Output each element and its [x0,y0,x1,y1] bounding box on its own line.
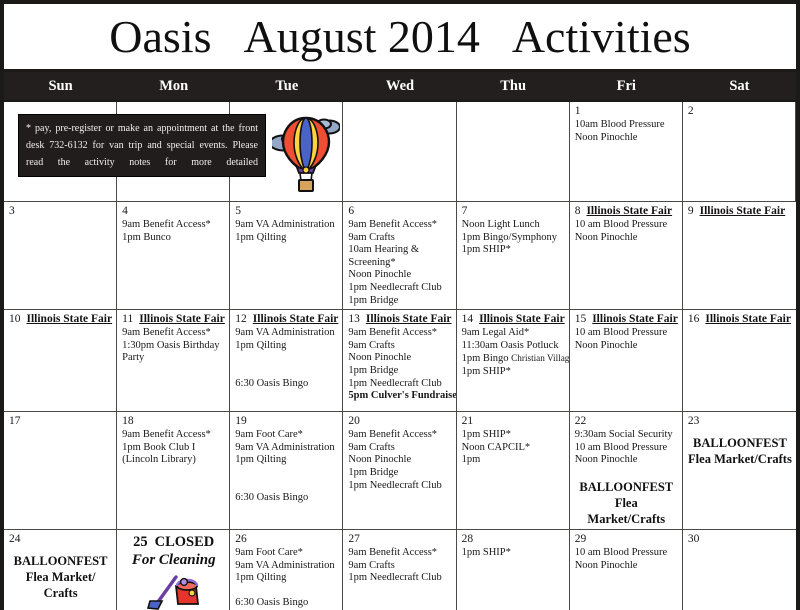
day-header: 4 [122,205,225,217]
day-number: 27 [348,533,360,545]
day-event-item[interactable]: 1pm Bridge [348,467,451,480]
weekday-wed: Wed [343,72,456,100]
day-number: 5 [235,205,241,217]
weekday-fri: Fri [570,72,683,100]
day-cell-19[interactable]: 199am Foot Care*9am VA Administration1pm… [230,412,343,529]
day-cell-20[interactable]: 209am Benefit Access*9am CraftsNoon Pino… [343,412,456,529]
day-cell-3[interactable]: 3 [4,202,117,309]
calendar-week-row: 10Illinois State Fair11Illinois State Fa… [4,310,796,412]
closed-sublabel: For Cleaning [122,552,225,569]
day-event-item[interactable]: 9am Foot Care* [235,429,338,442]
day-event-list: 9am Benefit Access*9am Crafts1pm Needlec… [348,547,451,585]
day-event-item[interactable]: 1pm Needlecraft Club [348,282,451,295]
day-header: 16Illinois State Fair [688,313,792,325]
day-event-item[interactable]: 1pm Qilting [235,454,338,467]
banner-spacer [575,467,678,479]
day-header: 19 [235,415,338,427]
day-event-list: 9am Benefit Access*9am CraftsNoon Pinoch… [348,429,451,492]
day-number: 8 [575,205,581,217]
day-event-item[interactable]: 9am Benefit Access* [348,547,451,560]
day-event-item[interactable]: 9am VA Administration [235,560,338,573]
day-event-item[interactable]: 10 am Blood Pressure [575,442,678,455]
day-number: 19 [235,415,247,427]
day-event-item[interactable]: 10 am Blood Pressure [575,547,678,560]
closed-label: CLOSED [155,534,215,551]
day-cell-9[interactable]: 9Illinois State Fair [683,202,796,309]
hot-air-balloon-icon [272,110,340,196]
day-event-tag: Illinois State Fair [139,313,225,325]
balloonfest-banner-line: BALLOONFEST [575,479,678,495]
day-header: 7 [462,205,565,217]
day-event-item[interactable]: 9am Benefit Access* [348,219,451,232]
day-event-item[interactable]: 10am Hearing & [348,244,451,257]
day-number: 12 [235,313,247,325]
day-event-item[interactable]: 1pm Needlecraft Club [348,480,451,493]
day-number: 26 [235,533,247,545]
day-number: 14 [462,313,474,325]
day-event-list: 10am Blood PressureNoon Pinochle [575,119,678,144]
day-event-tag: Illinois State Fair [366,313,452,325]
day-number: 23 [688,415,700,427]
day-event-item[interactable]: Noon Pinochle [348,352,451,365]
day-event-list: Noon Light Lunch1pm Bingo/Symphony1pm SH… [462,219,565,257]
day-event-item[interactable]: 9:30am Social Security [575,429,678,442]
calendar-week-row: 110am Blood PressureNoon Pinochle2* pay,… [4,102,796,202]
day-cell-24[interactable]: 24BALLOONFESTFlea Market/Crafts [4,530,117,610]
day-event-item[interactable]: 9am Benefit Access* [122,429,225,442]
day-header: 29 [575,533,678,545]
day-event-item[interactable]: 1pm Needlecraft Club [348,572,451,585]
day-number: 7 [462,205,468,217]
activity-note-text: * pay, pre-register or make an appointme… [26,120,258,171]
day-header: 1 [575,105,678,117]
balloonfest-banner-line: Crafts [9,585,112,601]
day-header: 13Illinois State Fair [348,313,451,325]
day-header: 11Illinois State Fair [122,313,225,325]
mop-and-bucket-icon [146,570,202,610]
weekday-mon: Mon [117,72,230,100]
day-number: 1 [575,105,581,117]
day-event-item[interactable]: Screening* [348,257,451,270]
day-event-list: 9am Legal Aid*11:30am Oasis Potluck1pm B… [462,327,565,378]
day-header: 22 [575,415,678,427]
day-number: 30 [688,533,700,545]
day-cell-21[interactable]: 211pm SHIP*Noon CAPCIL*1pm [457,412,570,529]
day-header: 28 [462,533,565,545]
day-number: 24 [9,533,21,545]
day-event-list: 9am VA Administration1pm Qilting 6:30 Oa… [235,327,338,390]
banner-spacer [9,545,112,553]
day-number: 20 [348,415,360,427]
day-cell-11[interactable]: 11Illinois State Fair9am Benefit Access*… [117,310,230,411]
day-event-tag: Illinois State Fair [27,313,113,325]
day-cell-12[interactable]: 12Illinois State Fair9am VA Administrati… [230,310,343,411]
weekday-thu: Thu [457,72,570,100]
day-event-item[interactable]: 9am Legal Aid* [462,327,565,340]
day-header: 24 [9,533,112,545]
day-header: 17 [9,415,112,427]
day-header: 26 [235,533,338,545]
day-event-tag: Illinois State Fair [586,205,672,217]
day-event-item[interactable]: 9am VA Administration [235,219,338,232]
day-number: 6 [348,205,354,217]
day-event-item[interactable]: 6:30 Oasis Bingo [235,378,338,391]
day-header: 8Illinois State Fair [575,205,678,217]
day-event-item[interactable]: 5pm Culver's Fundraiser [348,390,451,403]
day-number: 18 [122,415,134,427]
day-event-tag: Illinois State Fair [592,313,678,325]
day-cell-8[interactable]: 8Illinois State Fair10 am Blood Pressure… [570,202,683,309]
day-event-item[interactable]: 1pm Bingo/Symphony [462,232,565,245]
day-event-list: 1pm SHIP*Noon CAPCIL*1pm [462,429,565,467]
day-cell-5[interactable]: 59am VA Administration1pm Qilting [230,202,343,309]
calendar-week-row: 24BALLOONFESTFlea Market/Crafts25CLOSEDF… [4,530,796,610]
day-header: 2 [688,105,791,117]
day-event-item[interactable]: 9am Crafts [348,442,451,455]
weekday-tue: Tue [230,72,343,100]
day-header: 15Illinois State Fair [575,313,678,325]
balloonfest-banner-line: BALLOONFEST [688,435,792,451]
day-event-list: 9am Benefit Access*1pm Book Club I(Linco… [122,429,225,467]
weekday-sun: Sun [4,72,117,100]
balloonfest-banner-line: Flea Market/ [9,569,112,585]
day-cell-28[interactable]: 281pm SHIP* [457,530,570,610]
day-number: 13 [348,313,360,325]
day-cell-15[interactable]: 15Illinois State Fair10 am Blood Pressur… [570,310,683,411]
day-event-item[interactable]: Noon Pinochle [575,454,678,467]
day-event-item[interactable]: (Lincoln Library) [122,454,225,467]
day-event-item[interactable]: 1pm Qilting [235,340,338,353]
day-event-item[interactable]: Noon CAPCIL* [462,442,565,455]
day-event-item[interactable]: 1pm Bridge [348,295,451,308]
day-event-list: 9am Foot Care*9am VA Administration1pm Q… [235,547,338,610]
day-cell-27[interactable]: 279am Benefit Access*9am Crafts1pm Needl… [343,530,456,610]
day-cell-30[interactable]: 30 [683,530,796,610]
day-cell-4[interactable]: 49am Benefit Access*1pm Bunco [117,202,230,309]
day-event-list: 9am Benefit Access*1pm Bunco [122,219,225,244]
day-cell-23[interactable]: 23BALLOONFESTFlea Market/Crafts [683,412,796,529]
day-number: 15 [575,313,587,325]
day-header: 30 [688,533,792,545]
day-event-tag: Illinois State Fair [253,313,339,325]
calendar-grid: 110am Blood PressureNoon Pinochle2* pay,… [0,100,800,610]
day-cell-16[interactable]: 16Illinois State Fair [683,310,796,411]
day-event-list: 10 am Blood PressureNoon Pinochle [575,547,678,572]
day-event-item[interactable]: 10am Blood Pressure [575,119,678,132]
day-number: 11 [122,313,133,325]
day-cell-empty[interactable] [457,102,570,201]
day-cell-1[interactable]: 110am Blood PressureNoon Pinochle [570,102,683,201]
day-event-item[interactable]: Noon Pinochle [348,454,451,467]
day-header: 18 [122,415,225,427]
day-event-list: 9am Benefit Access*9am Crafts10am Hearin… [348,219,451,307]
day-event-item[interactable]: 1pm [462,454,565,467]
day-number: 10 [9,313,21,325]
day-event-list: 9am Benefit Access*9am CraftsNoon Pinoch… [348,327,451,403]
day-event-item[interactable]: 1:30pm Oasis Birthday [122,340,225,353]
day-event-item[interactable]: 1pm SHIP* [462,547,565,560]
day-event-item[interactable]: 6:30 Oasis Bingo [235,492,338,505]
day-header: 9Illinois State Fair [688,205,792,217]
day-event-item[interactable]: 1pm SHIP* [462,366,565,379]
day-event-list: 10 am Blood PressureNoon Pinochle [575,219,678,244]
day-number: 2 [688,105,694,117]
day-event-item[interactable]: 9am Benefit Access* [348,327,451,340]
day-number: 4 [122,205,128,217]
day-cell-10[interactable]: 10Illinois State Fair [4,310,117,411]
page-title: Oasis August 2014 Activities [109,14,690,60]
day-number: 22 [575,415,587,427]
day-cell-17[interactable]: 17 [4,412,117,529]
day-header: 6 [348,205,451,217]
weekday-sat: Sat [683,72,796,100]
day-event-item[interactable]: 1pm Bunco [122,232,225,245]
day-number: 9 [688,205,694,217]
day-header: 25CLOSED [122,534,225,551]
day-header: 21 [462,415,565,427]
calendar-page: Oasis August 2014 Activities Sun Mon Tue… [0,0,800,610]
weekday-header-row: Sun Mon Tue Wed Thu Fri Sat [0,72,800,100]
day-event-item[interactable]: 9am Benefit Access* [122,327,225,340]
day-cell-18[interactable]: 189am Benefit Access*1pm Book Club I(Lin… [117,412,230,529]
day-event-item[interactable]: 1pm SHIP* [462,244,565,257]
day-header: 23 [688,415,792,427]
day-number: 28 [462,533,474,545]
day-event-list: 9am VA Administration1pm Qilting [235,219,338,244]
day-header: 10Illinois State Fair [9,313,112,325]
day-event-item[interactable]: 6:30 Oasis Bingo [235,597,338,610]
day-cell-29[interactable]: 2910 am Blood PressureNoon Pinochle [570,530,683,610]
day-event-item[interactable]: Noon Light Lunch [462,219,565,232]
day-number: 17 [9,415,21,427]
day-event-list: 1pm SHIP* [462,547,565,560]
day-header: 5 [235,205,338,217]
day-event-list: 9am Foot Care*9am VA Administration1pm Q… [235,429,338,505]
day-event-item[interactable]: Party [122,352,225,365]
day-cell-13[interactable]: 13Illinois State Fair9am Benefit Access*… [343,310,456,411]
day-event-item[interactable]: Noon Pinochle [575,560,678,573]
day-event-item[interactable]: 9am VA Administration [235,442,338,455]
day-event-item[interactable]: 10 am Blood Pressure [575,327,678,340]
day-cell-6[interactable]: 69am Benefit Access*9am Crafts10am Heari… [343,202,456,309]
banner-spacer [688,427,792,435]
day-header: 12Illinois State Fair [235,313,338,325]
day-event-item[interactable]: 1pm SHIP* [462,429,565,442]
balloonfest-banner-line: Flea Market/Crafts [575,495,678,527]
day-number: 25 [133,534,148,551]
balloonfest-banner-line: BALLOONFEST [9,553,112,569]
day-event-item[interactable]: 9am VA Administration [235,327,338,340]
day-event-item[interactable]: 1pm Bridge [348,365,451,378]
day-number: 16 [688,313,700,325]
day-event-item[interactable]: 9am Crafts [348,340,451,353]
day-event-item[interactable]: Noon Pinochle [348,269,451,282]
day-header: 3 [9,205,112,217]
calendar-week-row: 17189am Benefit Access*1pm Book Club I(L… [4,412,796,530]
calendar-title-bar: Oasis August 2014 Activities [0,0,800,72]
day-event-item[interactable]: Noon Pinochle [575,232,678,245]
day-cell-7[interactable]: 7Noon Light Lunch1pm Bingo/Symphony1pm S… [457,202,570,309]
day-number: 29 [575,533,587,545]
day-event-item[interactable]: 10 am Blood Pressure [575,219,678,232]
day-event-item[interactable]: Noon Pinochle [575,340,678,353]
day-event-list: 10 am Blood PressureNoon Pinochle [575,327,678,352]
day-event-item[interactable]: 9am Benefit Access* [122,219,225,232]
day-event-item[interactable]: 1pm Needlecraft Club [348,378,451,391]
day-header: 20 [348,415,451,427]
day-event-item[interactable]: Noon Pinochle [575,132,678,145]
day-event-item[interactable]: 1pm Book Club I [122,442,225,455]
activity-note-box: * pay, pre-register or make an appointme… [18,114,266,177]
day-event-list: 9:30am Social Security10 am Blood Pressu… [575,429,678,467]
day-event-tag: Illinois State Fair [700,205,786,217]
day-event-item[interactable]: 11:30am Oasis Potluck [462,340,565,353]
day-event-item[interactable]: 9am Foot Care* [235,547,338,560]
day-cell-14[interactable]: 14Illinois State Fair9am Legal Aid*11:30… [457,310,570,411]
day-event-item[interactable]: 1pm Qilting [235,572,338,585]
day-event-tag: Illinois State Fair [705,313,791,325]
day-event-item[interactable]: 1pm Bingo Christian Village [462,352,565,366]
day-cell-25[interactable]: 25CLOSEDFor Cleaning [117,530,230,610]
day-event-item[interactable]: 9am Crafts [348,560,451,573]
day-event-tag: Illinois State Fair [479,313,565,325]
day-number: 3 [9,205,15,217]
day-cell-22[interactable]: 229:30am Social Security10 am Blood Pres… [570,412,683,529]
day-cell-2[interactable]: 2 [683,102,796,201]
day-cell-26[interactable]: 269am Foot Care*9am VA Administration1pm… [230,530,343,610]
day-event-item[interactable]: 1pm Qilting [235,232,338,245]
balloonfest-banner-line: Flea Market/Crafts [688,451,792,467]
day-header: 14Illinois State Fair [462,313,565,325]
day-event-list: 9am Benefit Access*1:30pm Oasis Birthday… [122,327,225,365]
calendar-week-row: 349am Benefit Access*1pm Bunco59am VA Ad… [4,202,796,310]
day-header: 27 [348,533,451,545]
day-number: 21 [462,415,474,427]
day-event-item[interactable]: 9am Benefit Access* [348,429,451,442]
day-cell-empty[interactable] [343,102,456,201]
day-event-item[interactable]: 9am Crafts [348,232,451,245]
